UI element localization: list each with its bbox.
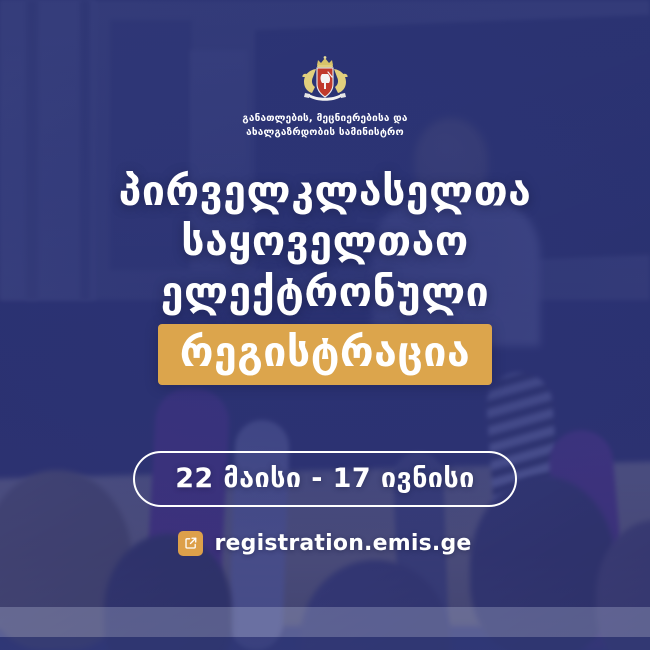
registration-url-text[interactable]: registration.emis.ge xyxy=(214,531,471,556)
poster-content: განათლების, მეცნიერებისა და ახალგაზრდობი… xyxy=(0,0,650,650)
ministry-name-line2: ახალგაზრდობის სამინისტრო xyxy=(242,126,407,140)
registration-url-row[interactable]: registration.emis.ge xyxy=(178,531,471,556)
external-link-icon xyxy=(178,531,203,556)
georgia-coat-of-arms-icon xyxy=(299,56,351,106)
ministry-branding: განათლების, მეცნიერებისა და ახალგაზრდობი… xyxy=(242,56,407,140)
headline-line-3: ელექტრონული xyxy=(119,267,532,318)
headline-line-1: პირველკლასელთა xyxy=(119,166,532,217)
registration-dates-pill: 22 მაისი - 17 ივნისი xyxy=(133,451,517,507)
registration-poster: განათლების, მეცნიერებისა და ახალგაზრდობი… xyxy=(0,0,650,650)
registration-badge: რეგისტრაცია xyxy=(158,324,492,385)
page-title: პირველკლასელთა საყოველთაო ელექტრონული xyxy=(119,166,532,318)
headline-line-2: საყოველთაო xyxy=(119,216,532,267)
ministry-name-line1: განათლების, მეცნიერებისა და xyxy=(242,112,407,126)
ministry-name: განათლების, მეცნიერებისა და ახალგაზრდობი… xyxy=(242,112,407,140)
